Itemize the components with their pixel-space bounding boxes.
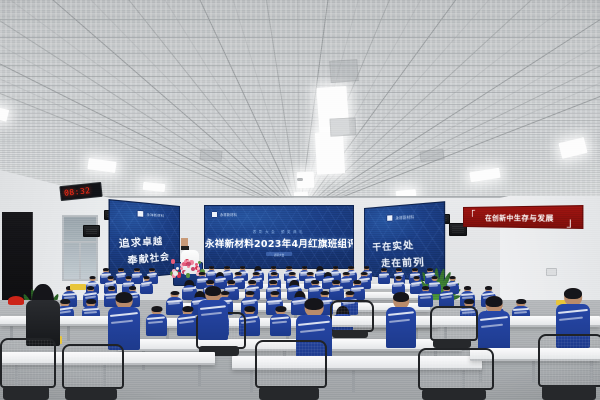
person-hair [103,268,109,271]
person-hair [412,268,418,271]
audience-member [270,306,291,336]
conference-room-photo: 08:32 永祥新材料 表彰大会 颁奖典礼 永祥新材料2023年4月红旗班组评比… [0,0,600,400]
table-leg [67,324,70,341]
audience-member [198,286,228,340]
table-leg [198,363,201,386]
person-hair [427,268,433,271]
ceiling-air-vent [200,149,223,162]
person-hair [332,280,340,284]
person-hair [86,299,96,304]
flower [184,260,187,263]
person-hair [235,272,242,275]
red-slogan-text: 在创新中生存与发展 [485,211,554,223]
ceiling-air-vent [329,59,358,83]
ceiling-light-panel [315,131,345,174]
ceiling-air-vent [330,117,357,136]
person-hair [199,272,206,275]
audience-member [418,286,433,307]
ceiling-tile-row [0,156,600,157]
person-hair [271,266,277,269]
ceiling-tile-row [0,148,600,149]
right-banner-logo: 永祥新材料 [386,213,414,222]
flower [198,261,201,264]
audience-member [478,296,510,354]
table-leg [532,359,535,382]
brand-mark-icon [386,214,393,222]
chair-back [538,334,600,387]
audience-member [146,306,167,336]
presenter-head [181,238,188,246]
ceiling-tile-row [0,132,600,133]
flower [171,259,175,263]
person-hair [516,299,526,304]
ceiling-tile-row [0,139,600,140]
person-hair [253,272,260,275]
audience-member [378,268,390,284]
person-hair [248,280,256,284]
person-hair [60,299,70,304]
ceiling-tile-row [0,126,600,127]
left-banner-brand-name: 永祥新材料 [147,212,164,219]
office-chair[interactable] [0,338,52,400]
person-hair [311,280,319,284]
audience-member [386,292,416,348]
ceiling-tile-row [0,19,600,20]
chair-back [0,338,56,388]
ceiling-tile-row [0,170,600,171]
audience-member [140,276,153,294]
left-banner-line1: 追求卓越 [118,234,163,251]
chair-back [418,348,494,390]
chair-seat [332,330,367,338]
screen-brand-name: 永祥新材料 [220,212,237,217]
person-hair [206,280,214,284]
ceiling-tile-row [0,53,600,54]
ceiling-tile-row [0,154,600,155]
person-hair [393,292,409,302]
chair-seat [65,388,116,400]
office-chair[interactable] [62,344,120,400]
table-leg [352,368,355,393]
wall-outlet[interactable] [546,268,557,276]
smoke-detector-icon [297,178,303,181]
main-presentation-screen[interactable]: 永祥新材料 表彰大会 颁奖典礼 永祥新材料2023年4月红旗班组评比 表彰大会 [204,205,354,269]
flower [186,273,190,277]
chair-seat [3,386,49,400]
person-hair [422,286,430,290]
person-hair [564,288,582,299]
chair-back [430,306,478,341]
bracket-right-icon: 」 [566,212,579,229]
ceiling-tile-row [0,129,600,130]
screen-subtitle-text: 表彰大会 [205,253,353,257]
person-hair [333,266,339,269]
person-hair [240,266,246,269]
ceiling-tile-row [0,152,600,153]
person-hair [486,296,503,307]
ceiling-tile-row [0,120,600,121]
person-hair [396,268,402,271]
person-hair [209,266,215,269]
person-hair [205,286,221,296]
ceiling-tile-row [0,145,600,146]
brand-mark-icon [137,210,145,218]
person-hair [227,280,235,284]
chair-back [255,340,327,388]
office-chair[interactable] [255,340,323,400]
person-hair [464,286,472,290]
chair-back [330,300,374,332]
person-hair [151,306,162,312]
left-banner-line2: 奉献社会 [127,249,170,267]
audience-member [26,284,60,346]
person-hair [224,266,230,269]
yellow-object [70,284,86,290]
person-hair [361,272,368,275]
person-hair [87,286,95,290]
person-hair [348,266,354,269]
chair-seat [259,387,319,400]
ceiling-tile-row [0,137,600,138]
person-hair [118,268,124,271]
bracket-left-icon: 「 [466,207,476,222]
chair-seat [422,389,485,400]
flower [197,267,200,270]
person-hair [304,298,323,310]
person-hair [149,268,155,271]
person-hair [129,286,137,290]
ceiling-tile-row [0,123,600,124]
person-hair [289,272,296,275]
audience-member [177,306,198,336]
led-clock-text: 08:32 [64,186,91,198]
ceiling-tile-row [0,150,600,151]
person-hair [269,280,277,284]
person-hair [286,266,292,269]
person-hair [108,286,116,290]
office-chair[interactable] [430,306,474,348]
ceiling-tile-row [0,113,600,114]
ceiling-tile-row [0,37,600,38]
ceiling-tile-row [0,85,600,86]
red-cap [8,296,24,305]
person-hair [381,268,387,271]
ceiling [0,0,600,205]
brand-mark-icon [211,211,218,218]
ceiling-tile-row [0,134,600,135]
table-leg [250,368,253,393]
screen-kicker-text: 表彰大会 颁奖典礼 [205,230,353,235]
person-hair [353,280,361,284]
person-hair [485,286,493,290]
office-chair[interactable] [538,334,600,400]
person-hair [364,266,370,269]
chair-seat [433,339,472,348]
audience-member [439,286,454,307]
ceiling-tile-row [0,109,600,110]
screen-main-title: 永祥新材料2023年4月红旗班组评比 [205,236,353,250]
person-hair [464,299,474,304]
screen-brand-logo: 永祥新材料 [211,211,237,218]
chair-seat [542,385,597,400]
person-hair [343,272,350,275]
person-hair [182,306,193,312]
person-hair [116,292,133,303]
red-slogan-banner: 「 在创新中生存与发展 」 [463,205,583,229]
flower [187,262,191,266]
ceiling-tile-row [0,143,600,144]
office-chair[interactable] [418,348,490,400]
office-chair[interactable] [330,300,370,338]
ceiling-tile-row [0,117,600,118]
ceiling-tile-row [0,104,600,105]
chair-back [62,344,124,389]
person-hair [244,306,255,312]
ceiling-tile-row [0,141,600,142]
window-mullion-vertical [79,241,81,279]
person-hair [275,306,286,312]
person-hair [307,272,314,275]
flower [176,267,179,270]
right-banner-brand-name: 永祥新材料 [396,214,415,221]
ceiling-tile-row [0,65,600,66]
ceiling-tile-row [0,76,600,77]
ceiling-tile-row [0,92,600,93]
audience-member [108,292,140,350]
person-hair [271,272,278,275]
flower [180,267,183,270]
person-hair [302,266,308,269]
ceiling-tile-row [0,99,600,100]
person-hair [134,268,140,271]
left-banner-logo: 永祥新材料 [137,210,164,219]
person-hair [443,286,451,290]
wall-monitor-left [83,225,100,237]
flower [173,271,178,276]
